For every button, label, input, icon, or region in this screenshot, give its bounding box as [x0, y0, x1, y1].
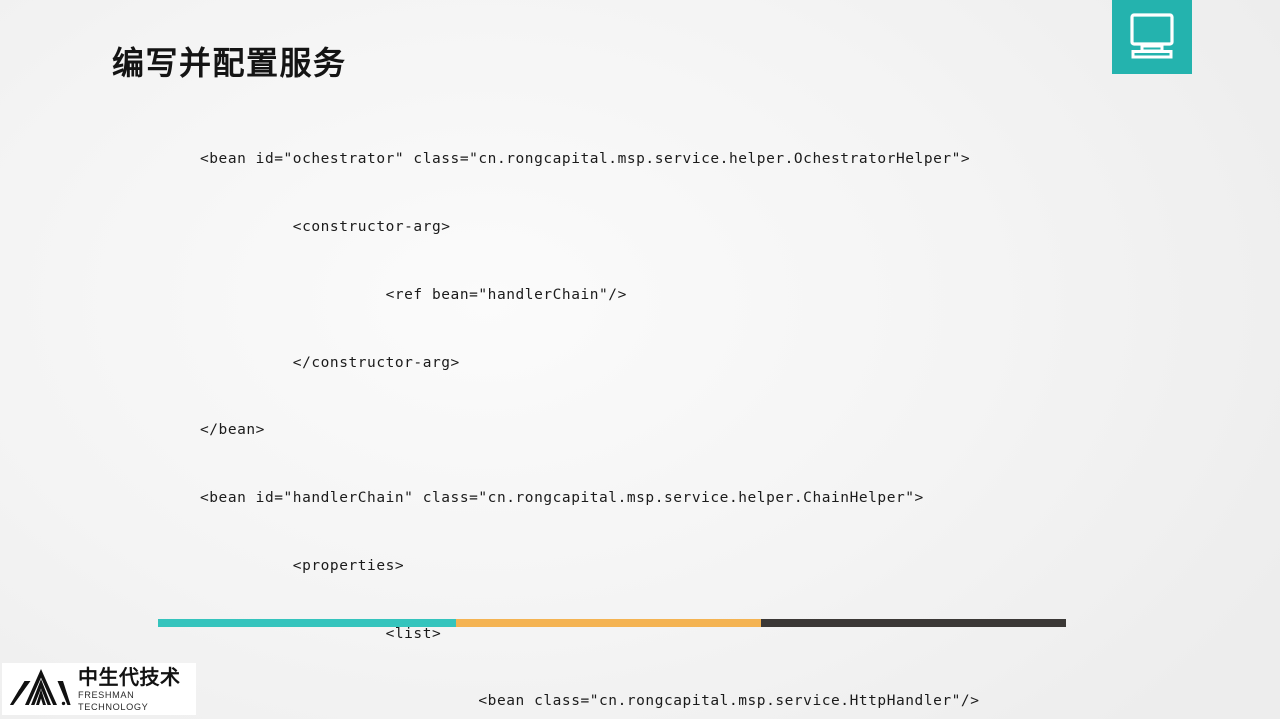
brand-logo-text: 中生代技术 FRESHMAN TECHNOLOGY: [78, 666, 196, 713]
mountain-peaks-logo-icon: [10, 667, 72, 712]
desktop-computer-icon: [1112, 12, 1192, 60]
code-line: </bean>: [200, 419, 1260, 442]
code-line: <ref bean="handlerChain"/>: [200, 284, 1260, 307]
code-line: <bean id="ochestrator" class="cn.rongcap…: [200, 148, 1260, 171]
color-bar-segment-amber: [456, 619, 761, 627]
slide-canvas: 编写并配置服务 <bean id="ochestrator" class="cn…: [0, 0, 1280, 719]
brand-logo: 中生代技术 FRESHMAN TECHNOLOGY: [2, 663, 196, 715]
color-divider-bar: [158, 619, 1066, 627]
corner-badge: [1112, 0, 1192, 74]
color-bar-segment-dark: [761, 619, 1066, 627]
code-line: <bean id="handlerChain" class="cn.rongca…: [200, 487, 1260, 510]
code-line: </constructor-arg>: [200, 352, 1260, 375]
code-line: <bean class="cn.rongcapital.msp.service.…: [200, 690, 1260, 713]
page-title: 编写并配置服务: [112, 44, 347, 82]
color-bar-segment-teal: [158, 619, 456, 627]
brand-name-cn: 中生代技术: [78, 666, 196, 688]
code-line: <properties>: [200, 555, 1260, 578]
brand-name-en: FRESHMAN TECHNOLOGY: [78, 689, 196, 713]
code-line: <constructor-arg>: [200, 216, 1260, 239]
